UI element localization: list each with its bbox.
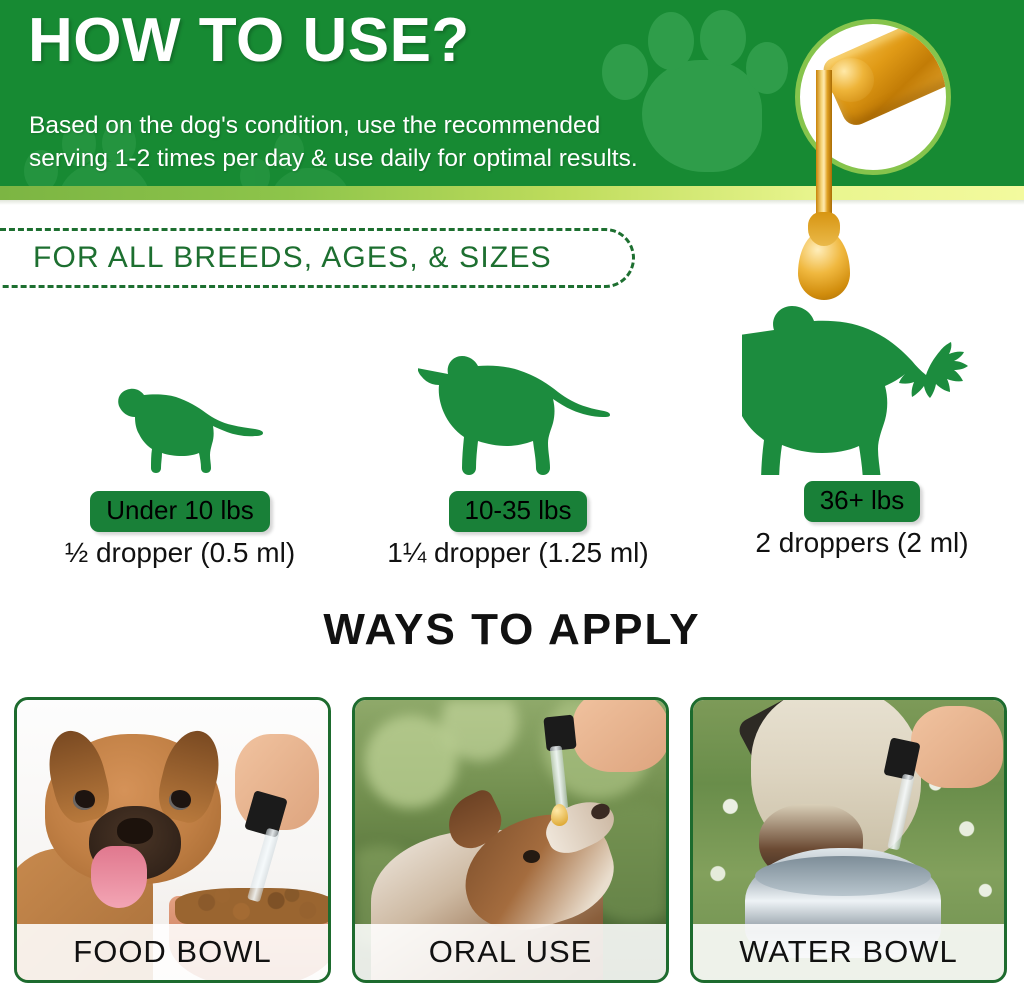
dog-ear-right (153, 725, 228, 827)
for-all-breeds-banner: FOR ALL BREEDS, AGES, & SIZES (0, 228, 635, 288)
dog-eye (523, 850, 540, 863)
dog-eye-right (169, 790, 191, 810)
header-subtitle: Based on the dog's condition, use the re… (29, 110, 759, 175)
dose-label-small: ½ dropper (0.5 ml) (0, 537, 360, 569)
panel-caption-water-bowl: WATER BOWL (693, 924, 1004, 980)
for-all-breeds-label: FOR ALL BREEDS, AGES, & SIZES (33, 241, 552, 275)
apply-panel-water-bowl: WATER BOWL (690, 697, 1007, 983)
page-title: HOW TO USE? (28, 8, 470, 73)
panel-caption-food-bowl: FOOD BOWL (17, 924, 328, 980)
size-badge-large: 36+ lbs (804, 481, 921, 522)
size-badge-medium: 10-35 lbs (449, 491, 588, 532)
medium-dog-silhouette-icon (418, 352, 618, 485)
dog-eye-left (73, 790, 95, 810)
apply-panel-food-bowl: FOOD BOWL (14, 697, 331, 983)
human-hand (573, 700, 666, 772)
dog-tongue (91, 846, 147, 908)
human-hand (911, 706, 1003, 788)
size-badge-small: Under 10 lbs (90, 491, 269, 532)
gradient-divider (0, 186, 1024, 200)
dosage-item-large: 36+ lbs 2 droppers (2 ml) (700, 300, 1024, 559)
oil-bulb-icon (828, 58, 874, 102)
ways-to-apply-title: WAYS TO APPLY (0, 605, 1024, 655)
large-dog-silhouette-icon (742, 300, 982, 475)
oil-droplet-icon (551, 804, 568, 826)
dose-label-large: 2 droppers (2 ml) (700, 527, 1024, 559)
header-subtitle-line-2: serving 1-2 times per day & use daily fo… (29, 143, 759, 176)
panel-caption-oral-use: ORAL USE (355, 924, 666, 980)
small-dog-silhouette-icon (95, 380, 265, 485)
water-surface (755, 856, 931, 896)
dose-label-medium: 1¼ dropper (1.25 ml) (338, 537, 698, 569)
dog-nose (117, 818, 153, 844)
dosage-item-small: Under 10 lbs ½ dropper (0.5 ml) (0, 380, 360, 569)
header-subtitle-line-1: Based on the dog's condition, use the re… (29, 110, 759, 143)
apply-panel-oral-use: ORAL USE (352, 697, 669, 983)
oil-droplet-icon (798, 230, 850, 300)
dosage-item-medium: 10-35 lbs 1¼ dropper (1.25 ml) (338, 352, 698, 569)
dog-ear-left (41, 725, 116, 827)
divider-shadow (0, 200, 1024, 205)
